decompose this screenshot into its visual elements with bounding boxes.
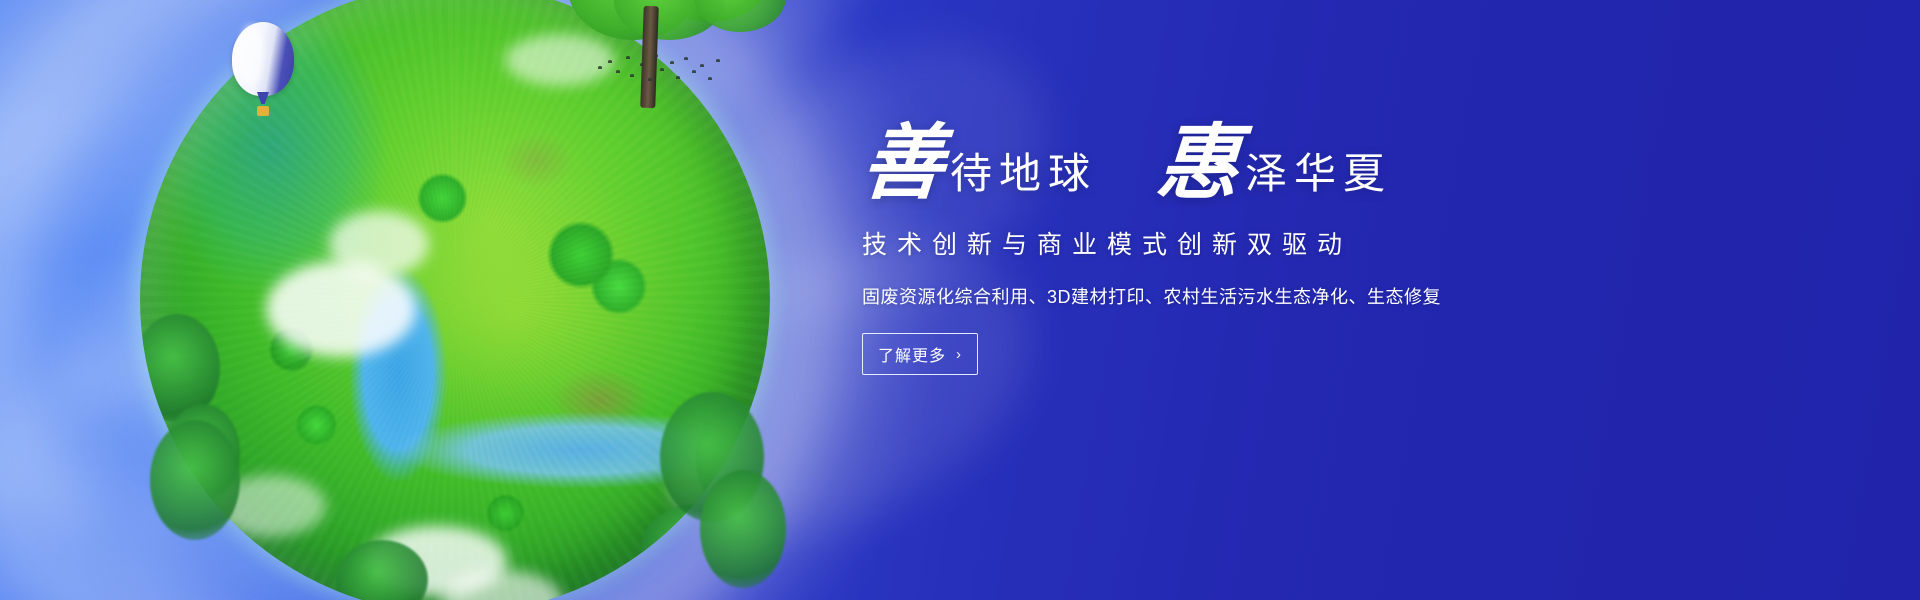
hero-banner: 善 待地球 惠 泽华夏 技术创新与商业模式创新双驱动 固废资源化综合利用、3D建…	[0, 0, 1920, 600]
hero-description: 固废资源化综合利用、3D建材打印、农村生活污水生态净化、生态修复	[862, 283, 1862, 309]
headline-daiqiu: 待地球	[950, 153, 1097, 201]
hero-copy: 善 待地球 惠 泽华夏 技术创新与商业模式创新双驱动 固废资源化综合利用、3D建…	[862, 126, 1862, 375]
balloon-neck	[257, 92, 269, 104]
balloon-envelope	[232, 22, 294, 96]
birds-icon	[596, 52, 726, 92]
cloud-icon	[329, 211, 429, 277]
balloon-basket	[257, 106, 269, 116]
learn-more-button[interactable]: 了解更多 ›	[862, 333, 978, 375]
chevron-right-icon: ›	[956, 346, 962, 363]
tree-icon	[700, 470, 786, 588]
headline-char-hui: 惠	[1154, 126, 1241, 201]
hot-air-balloon-icon	[232, 22, 294, 130]
page-title: 善 待地球 惠 泽华夏	[862, 126, 1862, 201]
headline-char-shan: 善	[859, 126, 946, 201]
headline-zehuaxia: 泽华夏	[1245, 153, 1392, 201]
learn-more-label: 了解更多	[878, 342, 946, 366]
tree-icon	[150, 420, 240, 540]
hero-subtitle: 技术创新与商业模式创新双驱动	[862, 225, 1862, 261]
